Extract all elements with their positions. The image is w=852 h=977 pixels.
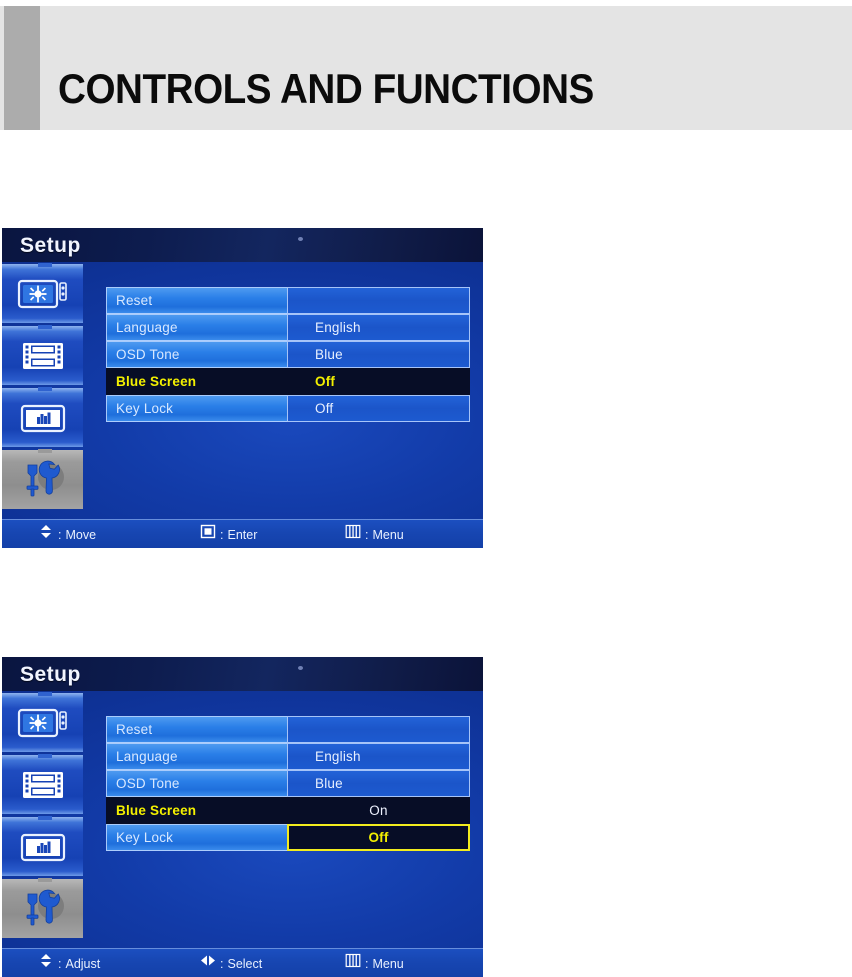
sidebar-tab-nub bbox=[38, 263, 52, 267]
sidebar-tab-nub bbox=[38, 449, 52, 453]
square-enter-icon bbox=[200, 524, 216, 545]
screen-display-icon bbox=[15, 398, 71, 438]
osd-sidebar bbox=[2, 264, 83, 510]
osd-hint-separator: : bbox=[220, 525, 223, 545]
osd-option-value[interactable]: Blue bbox=[287, 770, 470, 797]
page-title: CONTROLS AND FUNCTIONS bbox=[58, 68, 594, 110]
osd-hint-label: Move bbox=[65, 525, 96, 545]
osd-screenshot-navigate: Setup bbox=[2, 228, 483, 548]
osd-option-row[interactable]: Blue ScreenOn bbox=[106, 797, 470, 824]
up-down-arrow-icon bbox=[38, 953, 54, 974]
osd-option-label: Language bbox=[106, 743, 287, 770]
osd-option-row[interactable]: OSD ToneBlue bbox=[106, 341, 470, 368]
osd-option-row[interactable]: Reset bbox=[106, 287, 470, 314]
osd-option-value[interactable] bbox=[287, 287, 470, 314]
osd-hint-label: Menu bbox=[372, 525, 403, 545]
sidebar-item-setup[interactable] bbox=[2, 450, 83, 509]
osd-help-bar: :Adjust :Select :Menu bbox=[2, 948, 483, 977]
osd-option-label: Key Lock bbox=[106, 395, 287, 422]
osd-hint-enter: :Enter bbox=[200, 524, 257, 545]
page-header: CONTROLS AND FUNCTIONS bbox=[0, 6, 852, 130]
sidebar-item-screen[interactable] bbox=[2, 388, 83, 447]
osd-option-row[interactable]: LanguageEnglish bbox=[106, 743, 470, 770]
menu-bars-icon bbox=[345, 524, 361, 545]
osd-option-label: OSD Tone bbox=[106, 770, 287, 797]
film-strip-icon bbox=[15, 336, 71, 376]
osd-option-label: Reset bbox=[106, 287, 287, 314]
osd-hint-separator: : bbox=[365, 525, 368, 545]
osd-hint-adjust: :Adjust bbox=[38, 953, 100, 974]
sidebar-tab-nub bbox=[38, 387, 52, 391]
sidebar-tab-nub bbox=[38, 325, 52, 329]
sidebar-item-picture[interactable] bbox=[2, 693, 83, 752]
sidebar-item-video[interactable] bbox=[2, 326, 83, 385]
osd-hint-label: Menu bbox=[372, 954, 403, 974]
osd-hint-move: :Move bbox=[38, 524, 96, 545]
osd-option-value[interactable]: English bbox=[287, 743, 470, 770]
sidebar-item-screen[interactable] bbox=[2, 817, 83, 876]
osd-option-label: Blue Screen bbox=[106, 368, 287, 395]
osd-option-row[interactable]: Blue ScreenOff bbox=[106, 368, 470, 395]
osd-option-row[interactable]: LanguageEnglish bbox=[106, 314, 470, 341]
osd-title: Setup bbox=[20, 662, 81, 687]
osd-hint-menu: :Menu bbox=[345, 524, 404, 545]
osd-screenshot-edit: Setup bbox=[2, 657, 483, 977]
picture-brightness-icon bbox=[15, 703, 71, 743]
osd-option-label: Blue Screen bbox=[106, 797, 287, 824]
osd-hint-separator: : bbox=[220, 954, 223, 974]
osd-help-bar: :Move :Enter :Menu bbox=[2, 519, 483, 548]
screen-display-icon bbox=[15, 827, 71, 867]
setup-tools-icon bbox=[15, 460, 71, 500]
osd-sidebar bbox=[2, 693, 83, 939]
osd-option-value[interactable]: On bbox=[287, 797, 470, 824]
sidebar-tab-nub bbox=[38, 692, 52, 696]
osd-option-value[interactable] bbox=[287, 716, 470, 743]
osd-option-row[interactable]: Reset bbox=[106, 716, 470, 743]
osd-hint-label: Select bbox=[227, 954, 262, 974]
osd-title-bar: Setup bbox=[2, 657, 483, 691]
picture-brightness-icon bbox=[15, 274, 71, 314]
sidebar-tab-nub bbox=[38, 878, 52, 882]
sidebar-tab-nub bbox=[38, 754, 52, 758]
osd-title: Setup bbox=[20, 233, 81, 258]
setup-tools-icon bbox=[15, 889, 71, 929]
sidebar-item-setup[interactable] bbox=[2, 879, 83, 938]
osd-hint-select: :Select bbox=[200, 953, 262, 974]
osd-hint-menu: :Menu bbox=[345, 953, 404, 974]
osd-hint-label: Adjust bbox=[65, 954, 100, 974]
osd-option-row[interactable]: Key LockOff bbox=[106, 395, 470, 422]
up-down-arrow-icon bbox=[38, 524, 54, 545]
osd-option-value[interactable]: Off bbox=[287, 824, 470, 851]
osd-option-label: Language bbox=[106, 314, 287, 341]
osd-options-table: ResetLanguageEnglishOSD ToneBlueBlue Scr… bbox=[106, 716, 470, 851]
page-header-accent-bar bbox=[4, 6, 40, 130]
osd-option-label: Key Lock bbox=[106, 824, 287, 851]
osd-hint-label: Enter bbox=[227, 525, 257, 545]
osd-hint-separator: : bbox=[365, 954, 368, 974]
osd-title-bar: Setup bbox=[2, 228, 483, 262]
osd-option-row[interactable]: Key LockOff bbox=[106, 824, 470, 851]
left-right-arrow-icon bbox=[200, 953, 216, 974]
menu-bars-icon bbox=[345, 953, 361, 974]
sidebar-item-picture[interactable] bbox=[2, 264, 83, 323]
osd-option-label: OSD Tone bbox=[106, 341, 287, 368]
sidebar-item-video[interactable] bbox=[2, 755, 83, 814]
sidebar-tab-nub bbox=[38, 816, 52, 820]
osd-hint-separator: : bbox=[58, 954, 61, 974]
osd-options-table: ResetLanguageEnglishOSD ToneBlueBlue Scr… bbox=[106, 287, 470, 422]
osd-option-row[interactable]: OSD ToneBlue bbox=[106, 770, 470, 797]
osd-option-value[interactable]: Blue bbox=[287, 341, 470, 368]
osd-hint-separator: : bbox=[58, 525, 61, 545]
film-strip-icon bbox=[15, 765, 71, 805]
osd-option-value[interactable]: Off bbox=[287, 368, 470, 395]
osd-option-value[interactable]: Off bbox=[287, 395, 470, 422]
osd-option-value[interactable]: English bbox=[287, 314, 470, 341]
osd-option-label: Reset bbox=[106, 716, 287, 743]
